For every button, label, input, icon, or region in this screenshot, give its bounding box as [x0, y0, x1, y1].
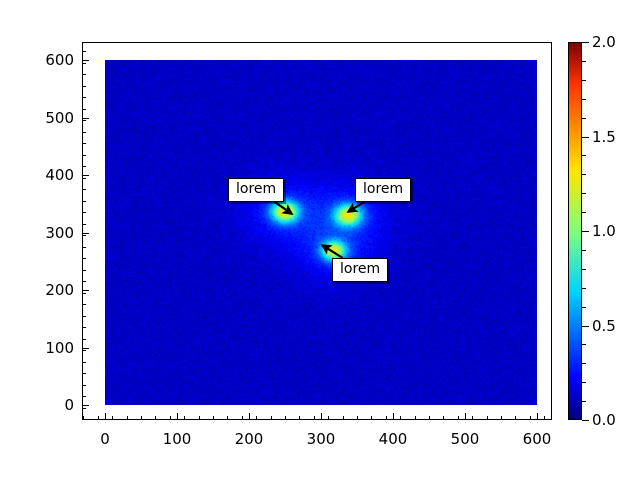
x-tick-label: 300 — [307, 430, 336, 448]
y-tick-minor — [82, 362, 86, 363]
y-tick-label: 0 — [64, 396, 74, 414]
x-tick-label: 400 — [379, 430, 408, 448]
y-tick-major — [82, 348, 89, 349]
y-tick-minor — [82, 109, 86, 110]
annotation-label: lorem — [355, 178, 411, 202]
colorbar-tick-minor — [582, 382, 586, 383]
x-tick-major — [177, 413, 178, 420]
y-tick-minor — [82, 212, 86, 213]
x-tick-major — [249, 413, 250, 420]
y-tick-minor — [82, 86, 86, 87]
colorbar-tick-major — [582, 137, 589, 138]
y-tick-label: 500 — [45, 109, 74, 127]
y-tick-minor — [82, 270, 86, 271]
y-tick-minor — [82, 51, 86, 52]
colorbar-tick-major — [582, 420, 589, 421]
y-tick-minor — [82, 396, 86, 397]
x-tick-label: 200 — [235, 430, 264, 448]
x-tick-minor — [328, 416, 329, 420]
y-tick-major — [82, 60, 89, 61]
y-tick-label: 600 — [45, 51, 74, 69]
colorbar-tick-label: 2.0 — [592, 33, 616, 51]
x-tick-minor — [155, 416, 156, 420]
y-tick-label: 200 — [45, 281, 74, 299]
y-tick-minor — [82, 258, 86, 259]
x-tick-minor — [256, 416, 257, 420]
y-tick-major — [82, 405, 89, 406]
colorbar-tick-minor — [582, 174, 586, 175]
x-tick-minor — [530, 416, 531, 420]
y-tick-label: 300 — [45, 224, 74, 242]
x-tick-minor — [127, 416, 128, 420]
colorbar-tick-minor — [582, 401, 586, 402]
y-tick-minor — [82, 63, 86, 64]
x-tick-minor — [242, 416, 243, 420]
y-tick-minor — [82, 247, 86, 248]
x-tick-minor — [501, 416, 502, 420]
x-tick-minor — [400, 416, 401, 420]
x-tick-minor — [227, 416, 228, 420]
x-tick-major — [321, 413, 322, 420]
y-tick-minor — [82, 339, 86, 340]
y-tick-minor — [82, 132, 86, 133]
x-tick-minor — [213, 416, 214, 420]
x-tick-minor — [271, 416, 272, 420]
x-tick-major — [537, 413, 538, 420]
colorbar-tick-minor — [582, 155, 586, 156]
y-tick-minor — [82, 201, 86, 202]
colorbar-tick-label: 0.0 — [592, 411, 616, 429]
colorbar-tick-minor — [582, 193, 586, 194]
x-tick-minor — [170, 416, 171, 420]
y-tick-minor — [82, 120, 86, 121]
figure-canvas: 01002003004005006000100200300400500600 0… — [0, 0, 640, 480]
y-tick-minor — [82, 143, 86, 144]
x-tick-minor — [472, 416, 473, 420]
y-tick-major — [82, 118, 89, 119]
x-tick-minor — [458, 416, 459, 420]
y-tick-minor — [82, 385, 86, 386]
y-tick-minor — [82, 189, 86, 190]
x-tick-major — [465, 413, 466, 420]
heatmap-image — [105, 60, 537, 405]
colorbar-tick-minor — [582, 307, 586, 308]
y-tick-minor — [82, 155, 86, 156]
colorbar-tick-label: 1.0 — [592, 222, 616, 240]
y-tick-minor — [82, 235, 86, 236]
colorbar-tick-minor — [582, 288, 586, 289]
x-tick-minor — [299, 416, 300, 420]
colorbar-tick-minor — [582, 269, 586, 270]
x-tick-minor — [199, 416, 200, 420]
annotation-label: lorem — [332, 258, 388, 282]
x-tick-minor — [184, 416, 185, 420]
x-tick-minor — [357, 416, 358, 420]
colorbar-tick-label: 1.5 — [592, 128, 616, 146]
colorbar-tick-major — [582, 42, 589, 43]
colorbar-tick-minor — [582, 363, 586, 364]
x-tick-major — [393, 413, 394, 420]
colorbar-tick-minor — [582, 99, 586, 100]
x-tick-label: 600 — [523, 430, 552, 448]
y-tick-major — [82, 290, 89, 291]
x-tick-minor — [314, 416, 315, 420]
x-tick-minor — [386, 416, 387, 420]
y-tick-minor — [82, 74, 86, 75]
x-tick-label: 0 — [100, 430, 110, 448]
y-tick-minor — [82, 281, 86, 282]
y-tick-minor — [82, 224, 86, 225]
x-tick-minor — [544, 416, 545, 420]
y-tick-minor — [82, 293, 86, 294]
colorbar-tick-minor — [582, 61, 586, 62]
colorbar-tick-minor — [582, 118, 586, 119]
colorbar-gradient — [568, 42, 582, 420]
x-tick-minor — [515, 416, 516, 420]
colorbar-tick-minor — [582, 344, 586, 345]
y-tick-label: 400 — [45, 166, 74, 184]
x-tick-minor — [285, 416, 286, 420]
y-tick-minor — [82, 316, 86, 317]
x-tick-minor — [141, 416, 142, 420]
x-tick-label: 500 — [451, 430, 480, 448]
y-tick-minor — [82, 304, 86, 305]
y-tick-label: 100 — [45, 339, 74, 357]
y-tick-minor — [82, 373, 86, 374]
y-tick-minor — [82, 419, 86, 420]
y-tick-minor — [82, 97, 86, 98]
colorbar — [568, 42, 582, 420]
y-tick-major — [82, 233, 89, 234]
x-tick-minor — [112, 416, 113, 420]
annotation-label: lorem — [228, 178, 284, 202]
x-tick-minor — [429, 416, 430, 420]
x-tick-minor — [343, 416, 344, 420]
x-tick-minor — [415, 416, 416, 420]
y-tick-minor — [82, 166, 86, 167]
x-tick-major — [105, 413, 106, 420]
x-tick-minor — [443, 416, 444, 420]
y-tick-minor — [82, 178, 86, 179]
colorbar-tick-major — [582, 326, 589, 327]
y-tick-minor — [82, 408, 86, 409]
y-tick-minor — [82, 327, 86, 328]
colorbar-tick-minor — [582, 250, 586, 251]
colorbar-tick-label: 0.5 — [592, 317, 616, 335]
colorbar-tick-minor — [582, 80, 586, 81]
x-tick-minor — [371, 416, 372, 420]
colorbar-tick-major — [582, 231, 589, 232]
x-tick-label: 100 — [163, 430, 192, 448]
y-tick-major — [82, 175, 89, 176]
y-tick-minor — [82, 350, 86, 351]
colorbar-tick-minor — [582, 212, 586, 213]
x-tick-minor — [98, 416, 99, 420]
x-tick-minor — [487, 416, 488, 420]
